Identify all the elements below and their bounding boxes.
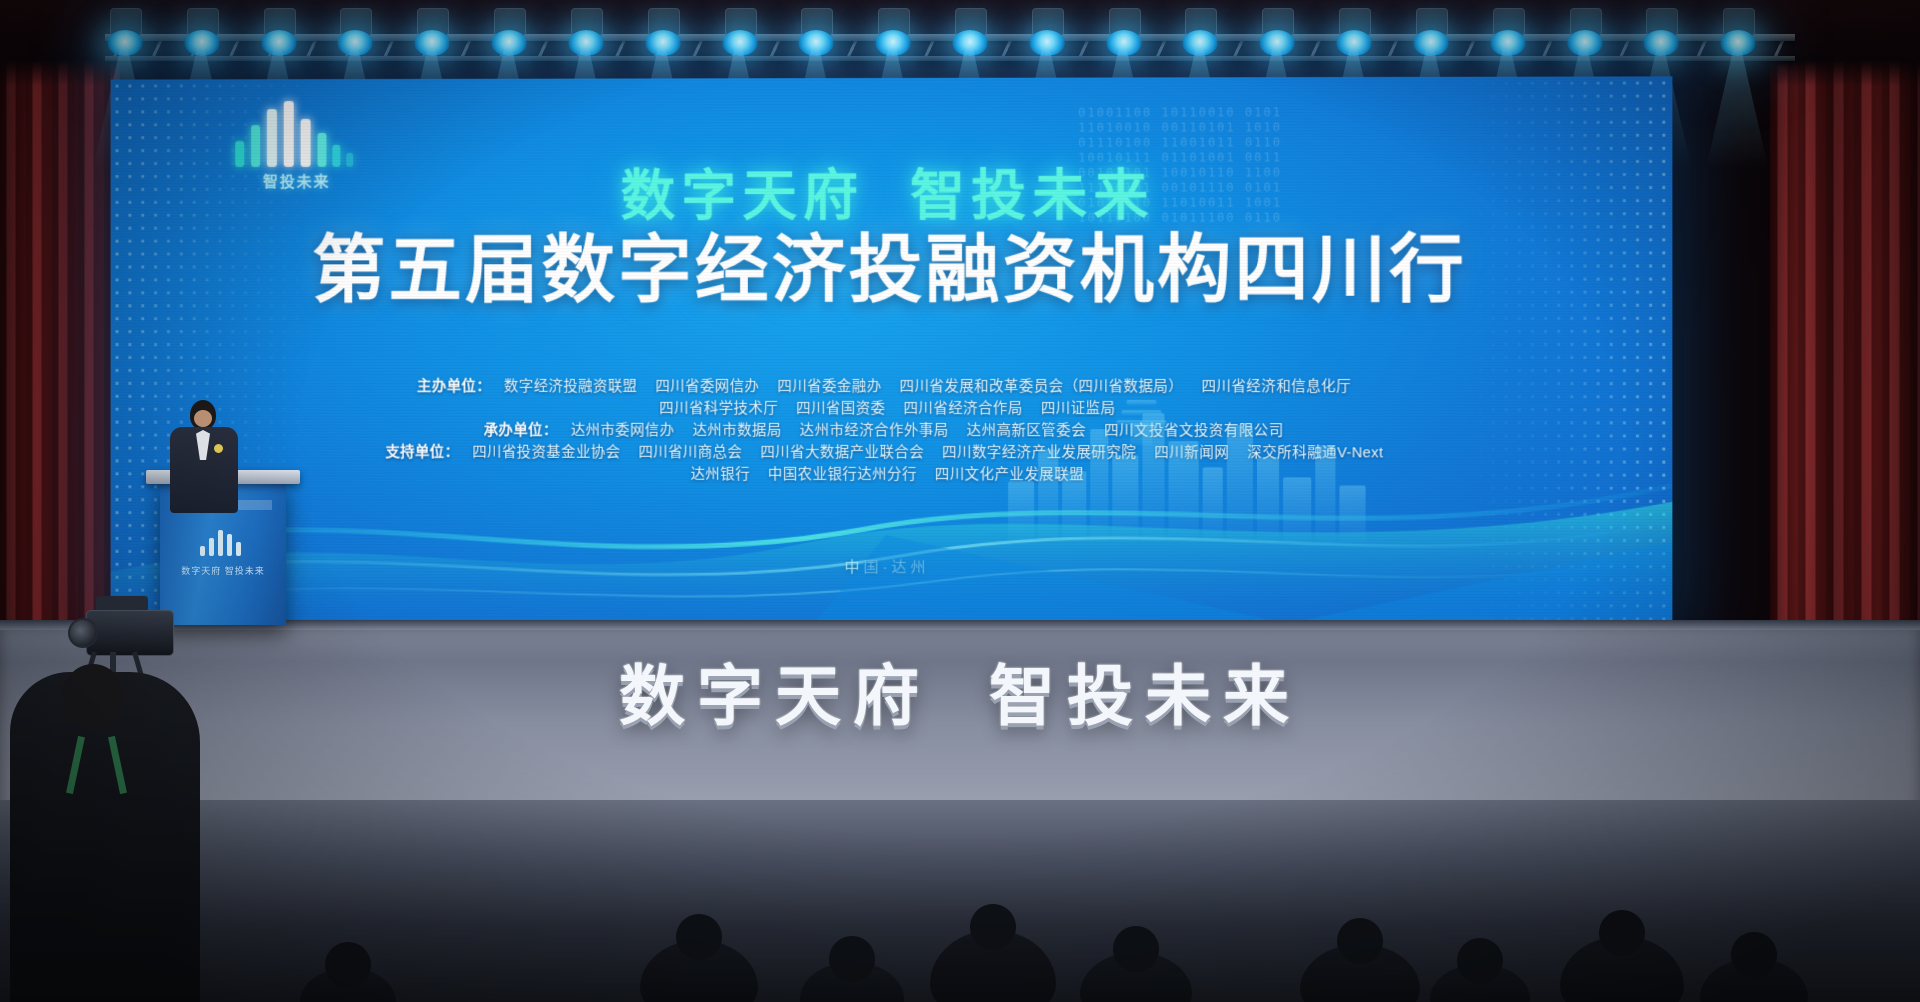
apron-slogan-a: 数字天府 bbox=[619, 659, 931, 733]
logo-bar bbox=[284, 101, 294, 167]
organizer-row: 四川省科学技术厅四川省国资委四川省经济合作局四川证监局 bbox=[111, 398, 1673, 421]
lanyard-strap-left bbox=[66, 736, 85, 794]
stage-lamp bbox=[1411, 8, 1451, 60]
slogan-part-b: 智投未来 bbox=[910, 164, 1154, 226]
audience-head bbox=[829, 936, 875, 982]
apron-slogan-b: 智投未来 bbox=[989, 659, 1301, 733]
audience-head bbox=[1337, 918, 1383, 964]
organizer-item: 数字经济投融资联盟 bbox=[504, 379, 637, 395]
stage-lamp bbox=[566, 8, 606, 60]
stage-lamp bbox=[796, 8, 836, 60]
podium-logo-bar bbox=[209, 538, 214, 556]
stage-lamp bbox=[950, 8, 990, 60]
stage-lamp bbox=[873, 8, 913, 60]
logo-bar bbox=[318, 133, 327, 167]
stage-lamp bbox=[1641, 8, 1681, 60]
podium-logo-caption: 数字天府 智投未来 bbox=[160, 564, 286, 577]
lighting-truss bbox=[105, 0, 1795, 84]
stage-lamp bbox=[1027, 8, 1067, 60]
stage-apron: 数字天府智投未来 bbox=[0, 620, 1920, 810]
event-slogan: 数字天府智投未来 bbox=[111, 163, 1673, 227]
organizer-label: 主办单位： bbox=[417, 379, 491, 395]
lanyard-strap-right bbox=[108, 736, 127, 794]
podium-logo-bar bbox=[200, 546, 205, 556]
event-headline: 第五届数字经济投融资机构四川行 bbox=[111, 227, 1673, 312]
stage-lamp bbox=[1180, 8, 1220, 60]
stage-lamp bbox=[489, 8, 529, 60]
speaker-badge bbox=[214, 444, 223, 453]
logo-bar bbox=[267, 109, 277, 167]
audience-head bbox=[676, 914, 722, 960]
wave-svg bbox=[111, 423, 1673, 635]
logo-bar bbox=[235, 141, 244, 167]
organizer-item: 四川省委金融办 bbox=[777, 379, 881, 395]
organizer-item: 四川省委网信办 bbox=[655, 379, 759, 395]
stage-photo-scene: 01001100 10110010 0101 11010010 00110101… bbox=[0, 0, 1920, 1002]
apron-slogan: 数字天府智投未来 bbox=[0, 658, 1920, 734]
camera-body bbox=[86, 610, 174, 656]
wave-ribbons bbox=[111, 423, 1673, 635]
audience-head bbox=[325, 942, 371, 988]
organizer-item: 四川省经济合作局 bbox=[903, 401, 1022, 417]
audience-head bbox=[1113, 926, 1159, 972]
led-stage-screen: 01001100 10110010 0101 11010010 00110101… bbox=[111, 76, 1673, 634]
stage-lamp bbox=[643, 8, 683, 60]
crew-head bbox=[62, 664, 124, 730]
logo-bars-icon bbox=[227, 101, 366, 167]
podium-logo-bar bbox=[236, 542, 241, 556]
stage-lamp bbox=[1718, 8, 1758, 60]
podium-logo-bar bbox=[218, 530, 223, 556]
stage-lamp bbox=[1334, 8, 1374, 60]
speaker-person bbox=[168, 400, 240, 510]
led-screen-surface: 01001100 10110010 0101 11010010 00110101… bbox=[111, 76, 1673, 634]
stage-lamp bbox=[1257, 8, 1297, 60]
audience-head bbox=[1731, 932, 1777, 978]
podium-logo-icon bbox=[200, 528, 246, 556]
stage-lamp bbox=[105, 8, 145, 60]
audience-head bbox=[1599, 910, 1645, 956]
stage-lamp bbox=[1488, 8, 1528, 60]
logo-bar bbox=[301, 119, 311, 167]
audience-head bbox=[970, 904, 1016, 950]
stage-lamp bbox=[335, 8, 375, 60]
stage-lamp bbox=[1104, 8, 1144, 60]
stage-lamp bbox=[259, 8, 299, 60]
headline-block: 数字天府智投未来 第五届数字经济投融资机构四川行 bbox=[111, 163, 1673, 312]
speaker-face bbox=[194, 410, 212, 427]
organizer-item: 四川省国资委 bbox=[796, 401, 885, 417]
stage-lamp bbox=[182, 8, 222, 60]
stage-lamp bbox=[1565, 8, 1605, 60]
audience-head bbox=[1457, 938, 1503, 984]
stage-lamp bbox=[412, 8, 452, 60]
stage-lamp bbox=[720, 8, 760, 60]
crew-member bbox=[10, 672, 200, 1002]
organizer-item: 四川省科学技术厅 bbox=[659, 401, 778, 417]
camera-lens-icon bbox=[68, 618, 98, 648]
logo-bar bbox=[332, 145, 340, 167]
organizer-row: 主办单位：数字经济投融资联盟四川省委网信办四川省委金融办四川省发展和改革委员会（… bbox=[111, 376, 1673, 398]
slogan-part-a: 数字天府 bbox=[621, 164, 864, 226]
podium-logo-bar bbox=[227, 534, 232, 556]
logo-bar bbox=[251, 125, 260, 167]
